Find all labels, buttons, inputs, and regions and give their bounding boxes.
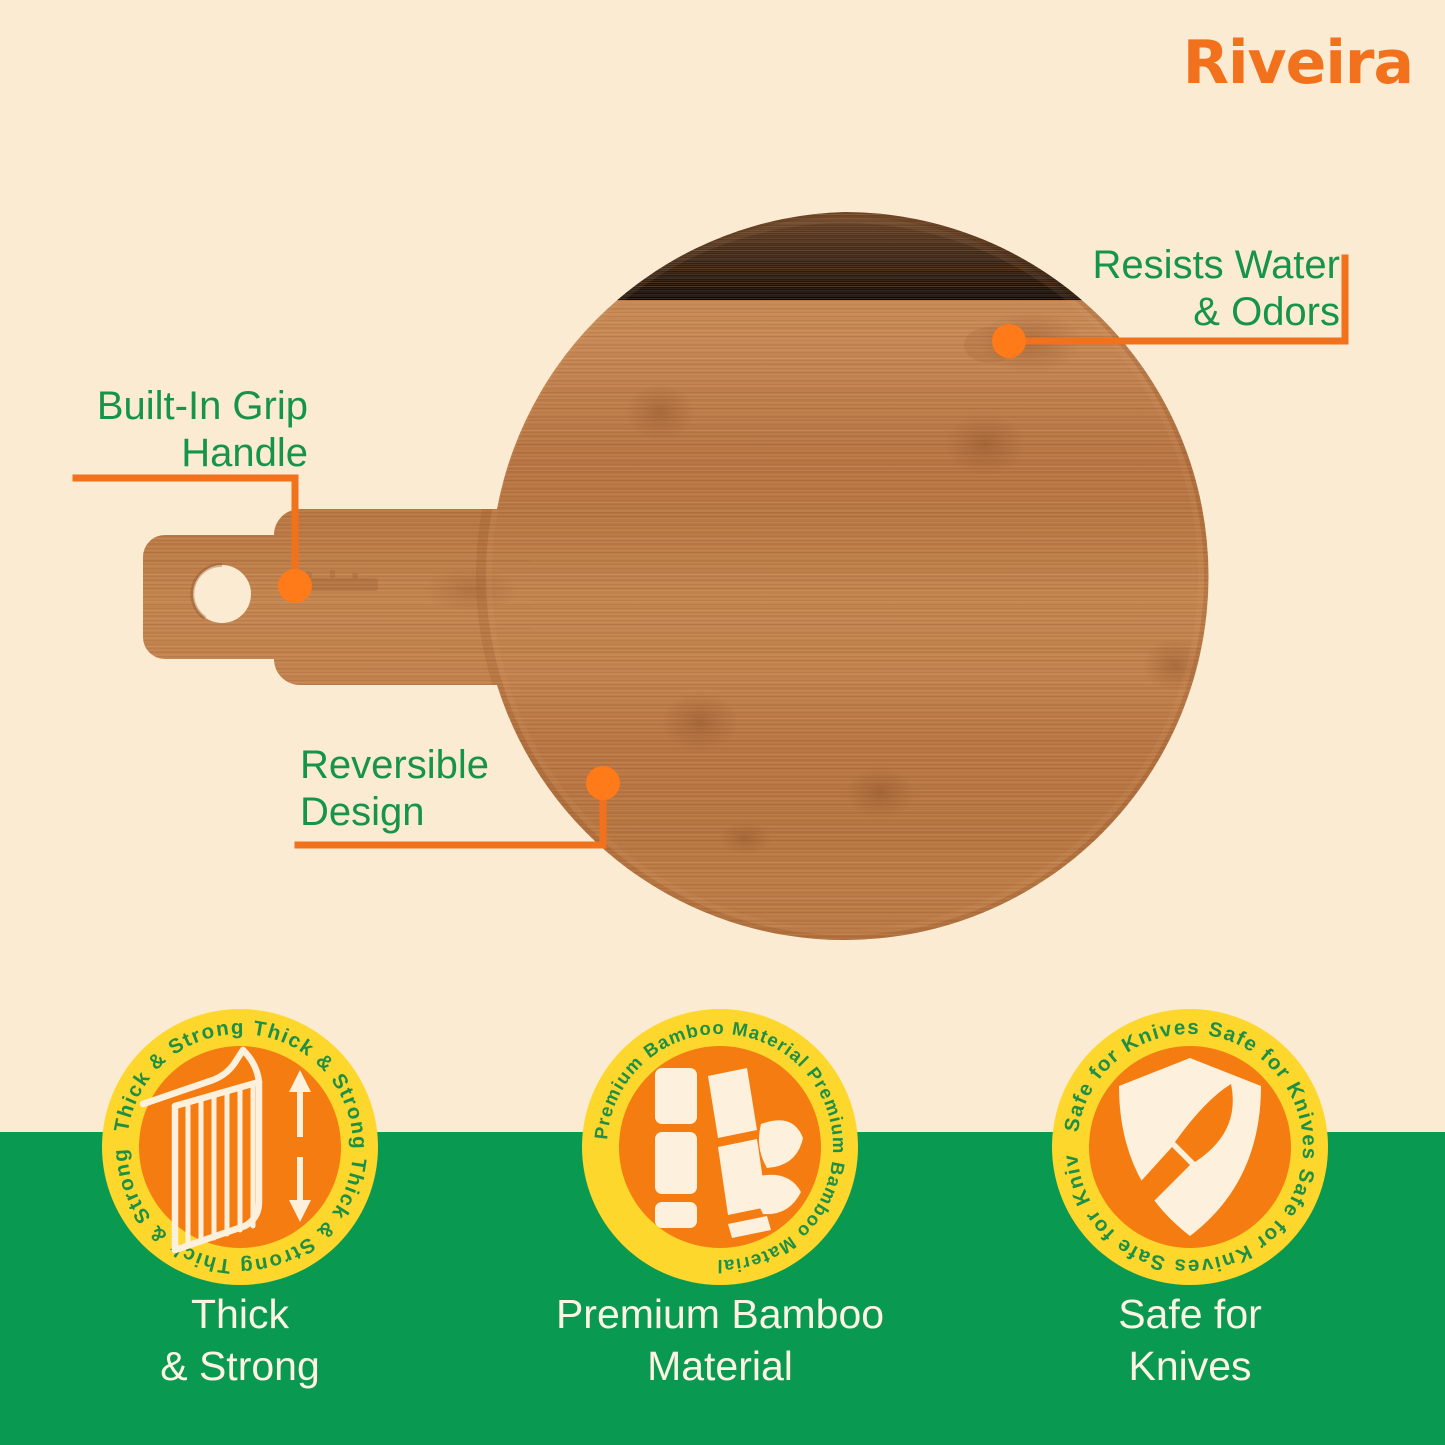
product-image <box>0 0 1445 1000</box>
bamboo-board-body <box>0 0 1445 1000</box>
callout-label-grip-handle: Built-In Grip Handle <box>60 383 308 477</box>
badge-caption-thick-and-strong: Thick & Strong <box>50 1288 430 1393</box>
feature-badges: Thick & Strong Thick & Strong Thick & St… <box>0 998 1445 1298</box>
badge-caption-premium-bamboo-material: Premium Bamboo Material <box>530 1288 910 1393</box>
badge-safe-for-knives: Safe for Knives Safe for Knives Safe for… <box>1045 1002 1335 1292</box>
badge-caption-safe-for-knives: Safe for Knives <box>1000 1288 1380 1393</box>
callout-dot-grip-handle <box>278 569 312 603</box>
handle-hanging-hole <box>192 565 251 623</box>
badge-thick-and-strong: Thick & Strong Thick & Strong Thick & St… <box>95 1002 385 1292</box>
callout-label-resists-water: Resists Water & Odors <box>910 242 1340 336</box>
badge-premium-bamboo-material: Premium Bamboo Material Premium Bamboo M… <box>575 1002 865 1292</box>
callout-label-reversible-design: Reversible Design <box>300 742 600 836</box>
badge-captions: Thick & Strong Premium Bamboo Material S… <box>0 1288 1445 1418</box>
infographic-canvas: Riveira <box>0 0 1445 1445</box>
